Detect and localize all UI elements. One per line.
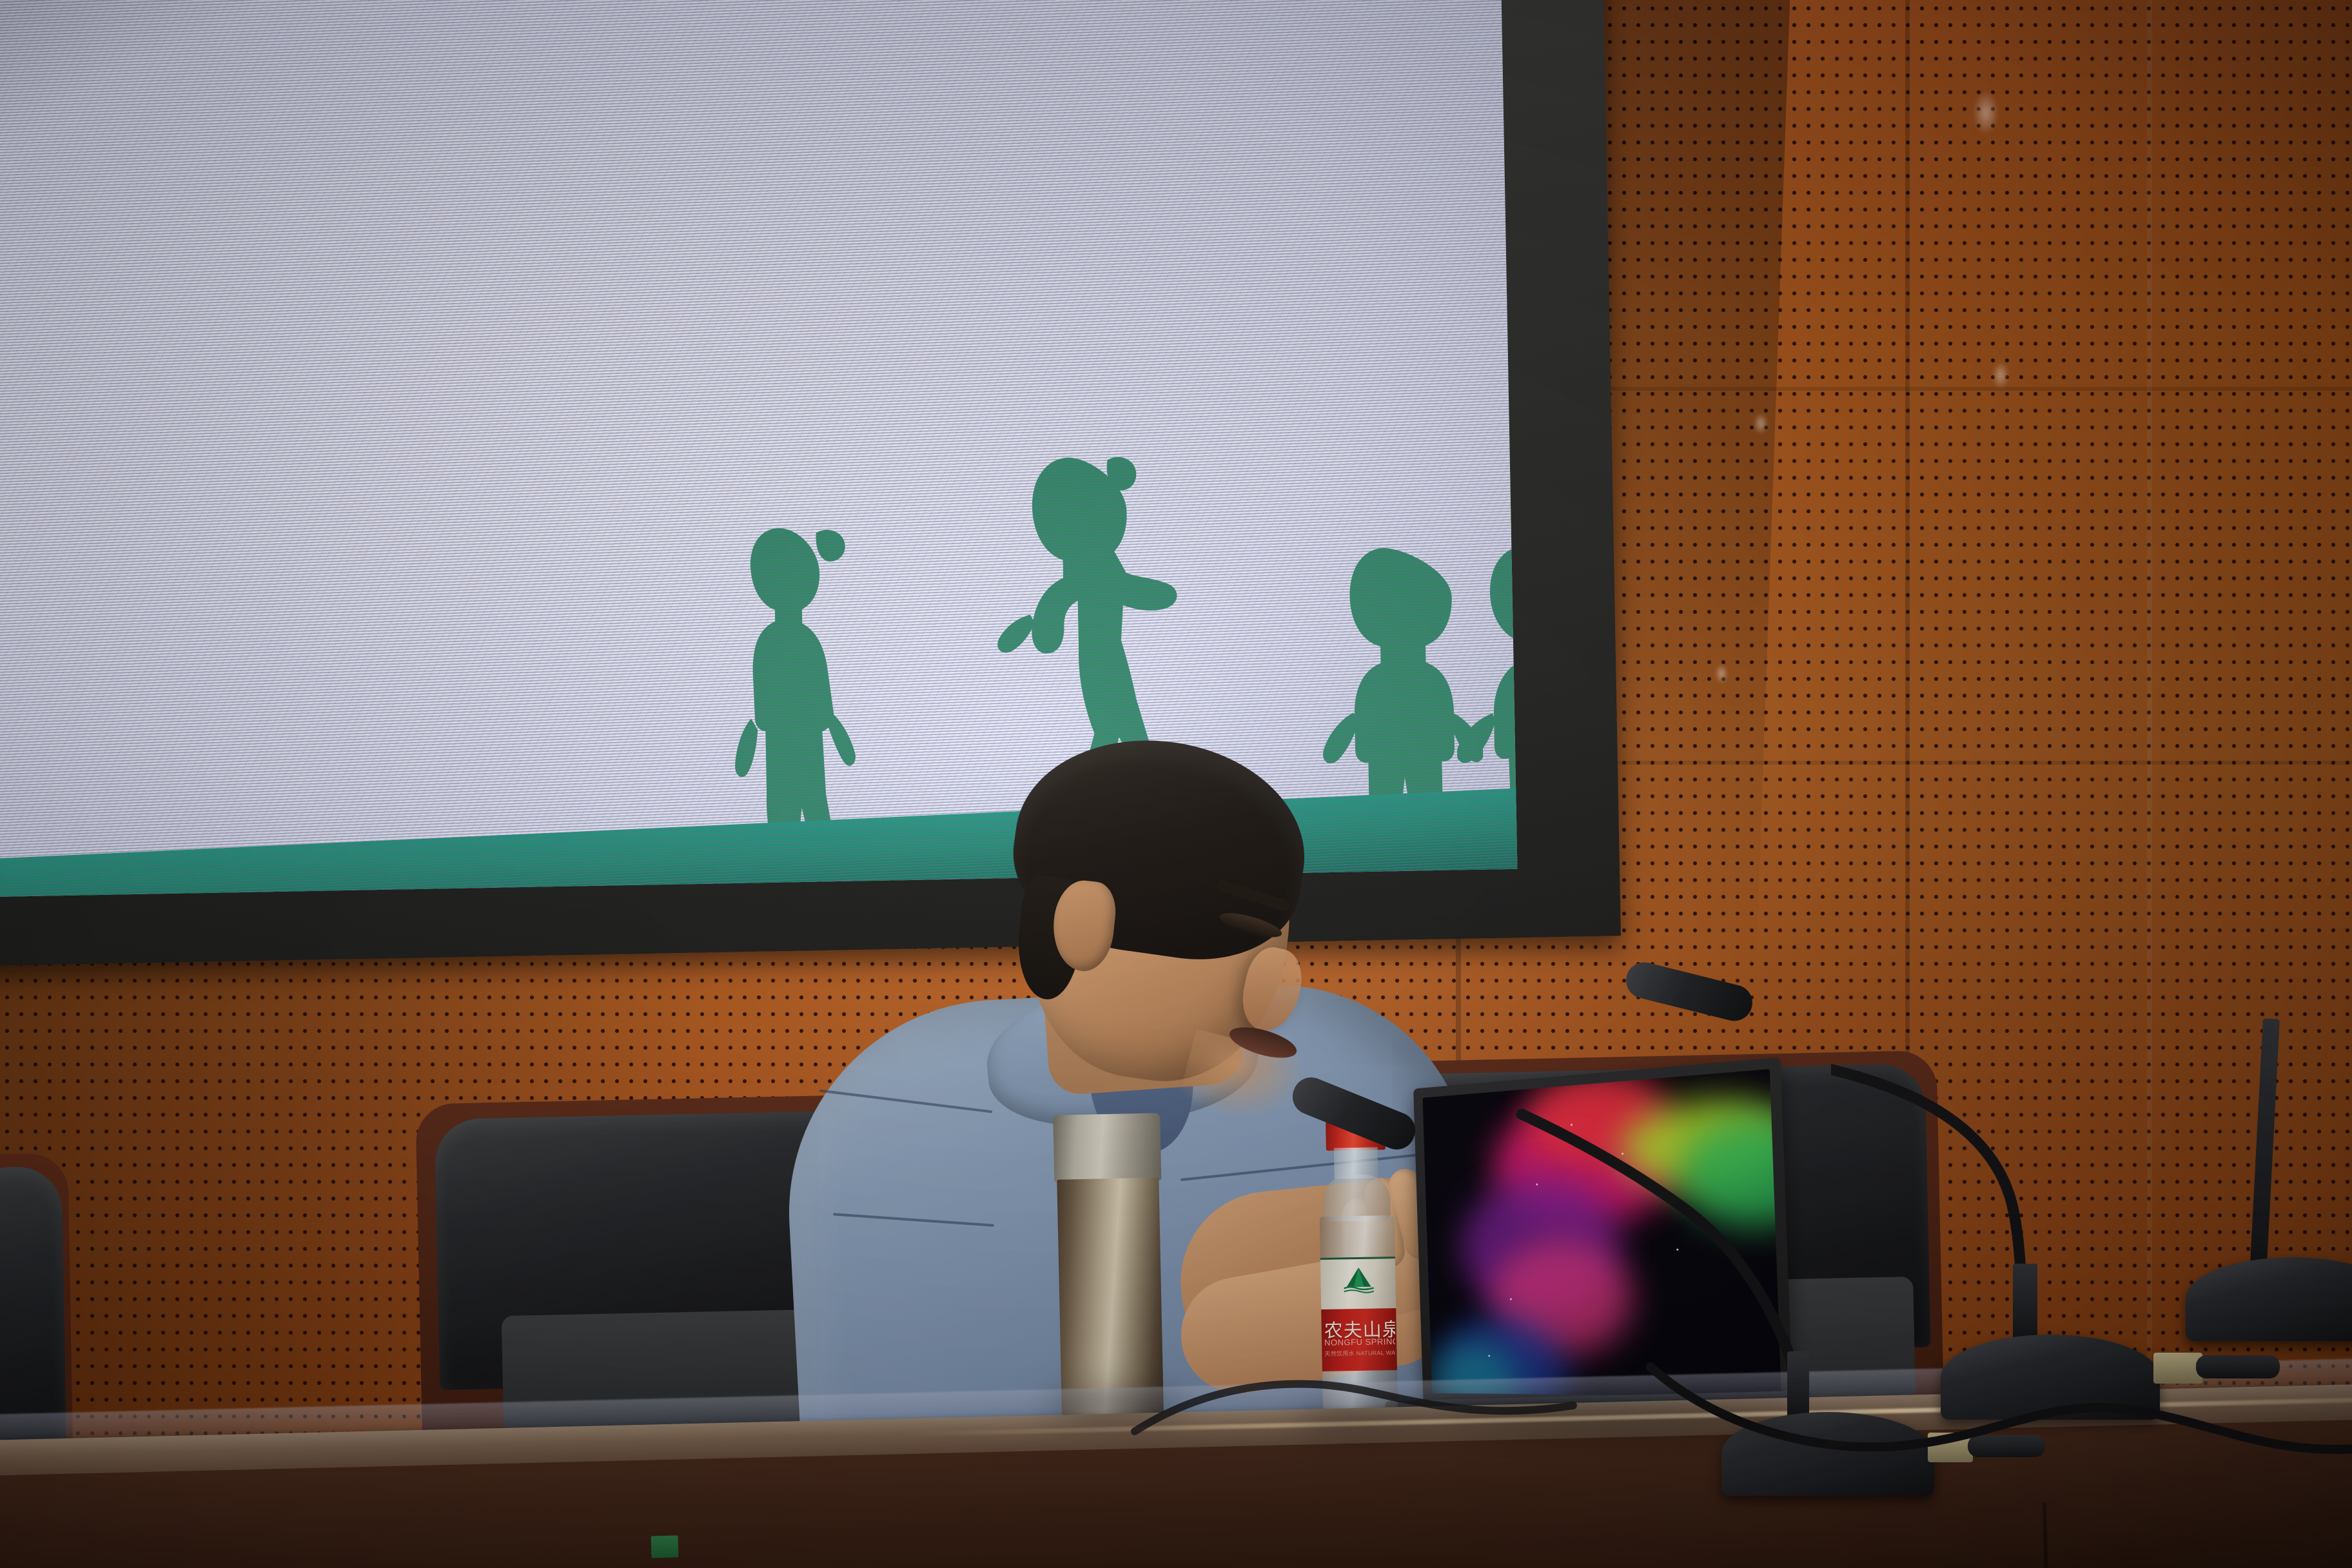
bottle-shadow [1296,1406,1425,1434]
green-mountain-logo-icon [1342,1266,1375,1295]
wall-blemish-2 [1992,361,2009,389]
wall-blemish-1 [1973,90,1999,135]
laptop-shadow [1406,1399,1805,1435]
audio-cable [1638,1347,2352,1515]
mic-stem-collar-center [2013,1264,2037,1341]
bottle-brand-en: NONGFU SPRING [1324,1337,1395,1347]
desk-green-label [651,1536,679,1558]
wall-blemish-3 [1754,413,1768,435]
thermos-shadow [1044,1391,1186,1420]
bottle-shoulder [1323,1174,1391,1222]
photo-scene: 体育学院 陈振勇 教授 博士生导师 [0,0,2352,1568]
thermos-lid [1053,1113,1161,1182]
projection-screen: 体育学院 陈振勇 教授 博士生导师 [0,0,1517,897]
wall-blemish-4 [1715,664,1728,683]
